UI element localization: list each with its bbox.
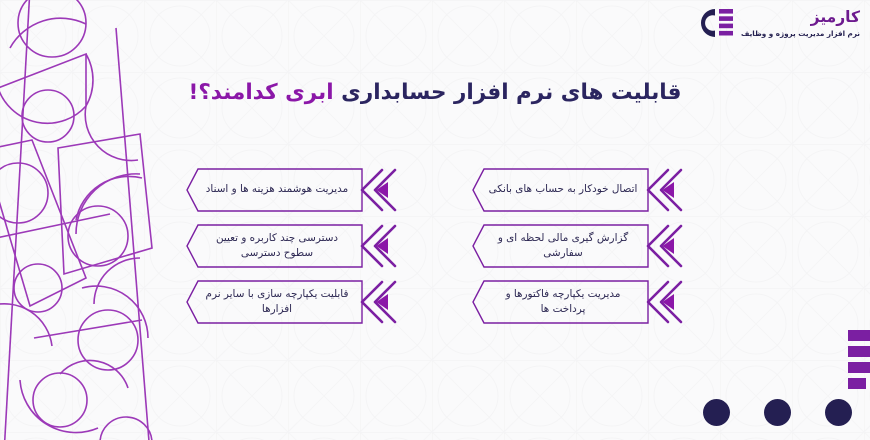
feature-item[interactable]: اتصال خودکار به حساب های بانکی [472,168,684,212]
feature-item[interactable]: دسترسی چند کاربره و تعیین سطوح دسترسی [186,224,398,268]
feature-label: مدیریت هوشمند هزینه ها و اسناد [202,168,352,212]
feature-column-left: مدیریت هوشمند هزینه ها و اسناد دسترسی چن… [186,168,398,324]
brand-name: کارمیز [741,8,860,27]
slide-canvas: کارمیز نرم افزار مدیریت پروژه و وظایف قا… [0,0,870,440]
feature-label: اتصال خودکار به حساب های بانکی [488,168,638,212]
accent-dot [764,399,791,426]
brand-tagline: نرم افزار مدیریت پروژه و وظایف [741,29,860,38]
feature-item[interactable]: قابلیت یکپارچه سازی با سایر نرم افزارها [186,280,398,324]
accent-dots [703,399,852,426]
feature-label: مدیریت یکپارچه فاکتورها و پرداخت ها [488,280,638,324]
feature-item[interactable]: مدیریت یکپارچه فاکتورها و پرداخت ها [472,280,684,324]
page-title-accent: ابری کدامند؟! [189,80,334,105]
page-title: قابلیت های نرم افزار حسابداری ابری کدامن… [0,78,870,107]
accent-dot [825,399,852,426]
feature-item[interactable]: گزارش گیری مالی لحظه ای و سفارشی [472,224,684,268]
accent-bar [848,346,870,357]
brand-logo-text: کارمیز نرم افزار مدیریت پروژه و وظایف [741,8,860,37]
karmiz-logo-mark [688,6,734,40]
accent-bars [848,330,870,389]
brand-logo: کارمیز نرم افزار مدیریت پروژه و وظایف [688,6,860,40]
page-title-primary: قابلیت های نرم افزار حسابداری [341,80,681,105]
accent-dot [703,399,730,426]
feature-label: دسترسی چند کاربره و تعیین سطوح دسترسی [202,224,352,268]
accent-bar [848,330,870,341]
accent-bar [848,362,870,373]
feature-item[interactable]: مدیریت هوشمند هزینه ها و اسناد [186,168,398,212]
accent-bar [848,378,866,389]
feature-label: گزارش گیری مالی لحظه ای و سفارشی [488,224,638,268]
feature-label: قابلیت یکپارچه سازی با سایر نرم افزارها [202,280,352,324]
feature-column-right: اتصال خودکار به حساب های بانکی گزارش گیر… [472,168,684,324]
feature-columns: اتصال خودکار به حساب های بانکی گزارش گیر… [0,168,870,324]
